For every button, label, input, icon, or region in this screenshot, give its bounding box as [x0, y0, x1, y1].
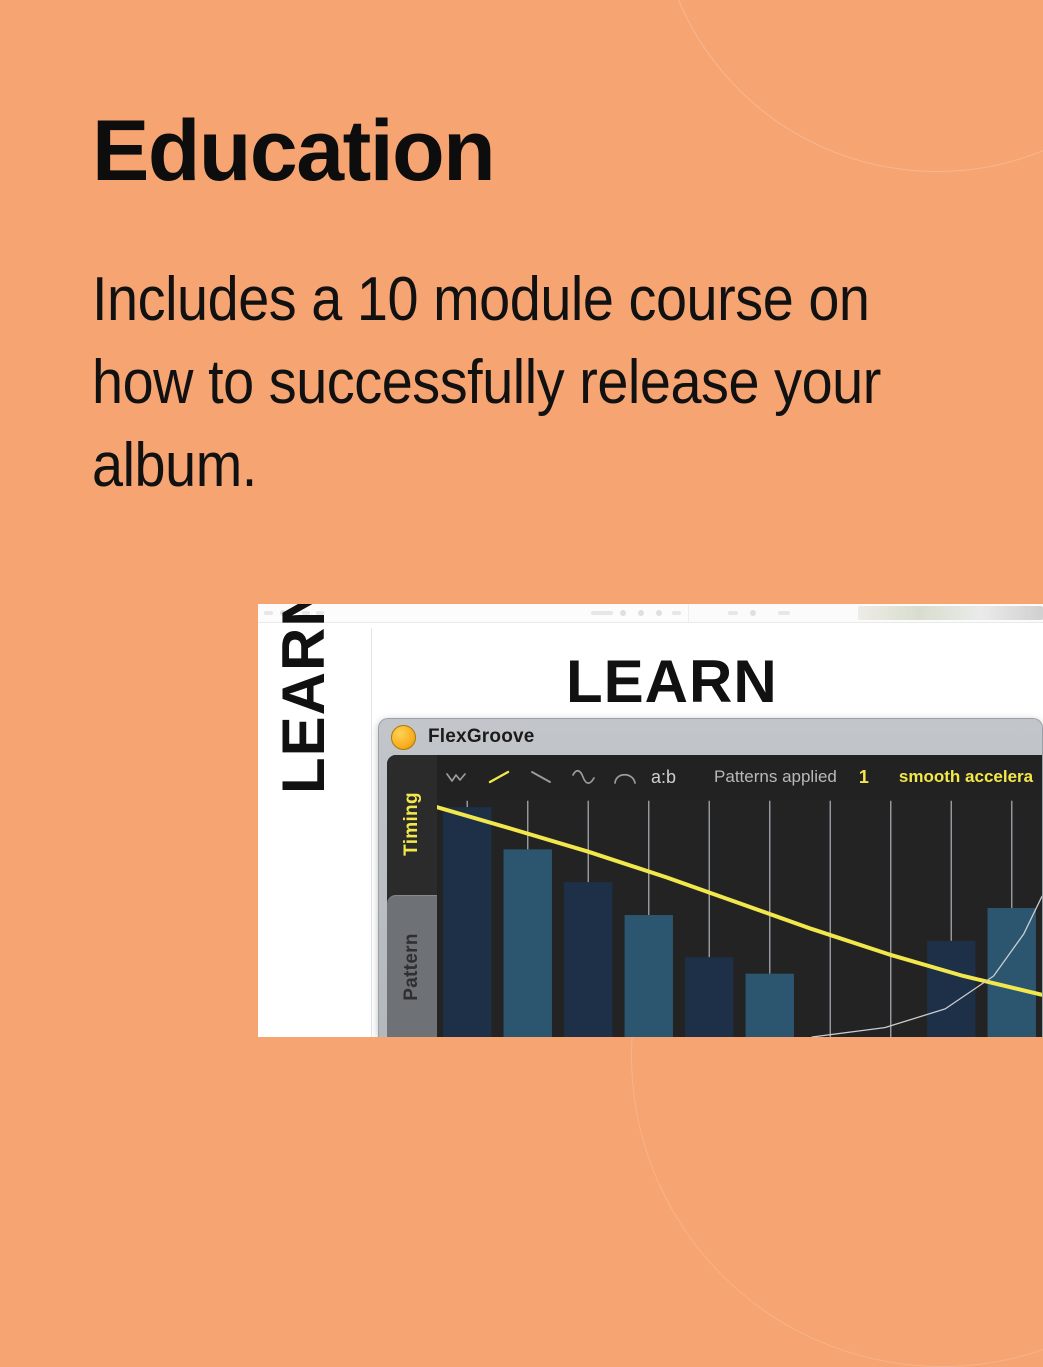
arc-curve-icon[interactable]: [605, 762, 647, 792]
ramp-up-curve-icon[interactable]: [479, 762, 521, 792]
plugin-body: Timing Pattern: [387, 755, 1042, 1037]
chart-bars: [443, 807, 1036, 1037]
chart-bar[interactable]: [564, 882, 612, 1037]
chart-bar[interactable]: [685, 957, 733, 1037]
learn-vertical-label: LEARN: [274, 604, 334, 794]
plugin-titlebar[interactable]: FlexGroove: [379, 719, 1042, 755]
vertical-divider: [371, 628, 372, 1037]
browser-secondary-icon-3[interactable]: [778, 611, 790, 615]
tab-timing[interactable]: Timing: [387, 755, 437, 893]
patterns-applied-value[interactable]: 1: [859, 767, 869, 788]
flexgroove-plugin-window: FlexGroove Timing Pattern: [378, 718, 1043, 1037]
chart-bar[interactable]: [504, 849, 552, 1037]
patterns-applied-label: Patterns applied: [714, 767, 837, 787]
timing-bar-chart[interactable]: [437, 799, 1042, 1037]
chart-bar[interactable]: [625, 915, 673, 1037]
browser-thumbnail-strip: [858, 606, 1043, 620]
tab-pattern[interactable]: Pattern: [387, 895, 437, 1037]
browser-toolbar-icon-2[interactable]: [638, 610, 644, 616]
tab-pattern-label: Pattern: [401, 933, 423, 1001]
chart-bar[interactable]: [927, 941, 975, 1037]
browser-toolbar-icon-1[interactable]: [620, 610, 626, 616]
plugin-tab-rail: Timing Pattern: [387, 755, 437, 1037]
page-title: Education: [92, 108, 972, 194]
ratio-ab-button[interactable]: a:b: [651, 767, 676, 788]
browser-menu-icon[interactable]: [672, 611, 681, 615]
browser-secondary-icon-1[interactable]: [728, 611, 738, 615]
page-subtitle: Includes a 10 module course on how to su…: [92, 258, 884, 507]
chart-bar[interactable]: [746, 974, 794, 1037]
copy-block: Education Includes a 10 module course on…: [92, 108, 972, 507]
zigzag-curve-icon[interactable]: [437, 762, 479, 792]
browser-toolbar-icon-3[interactable]: [656, 610, 662, 616]
chart-svg: [437, 799, 1042, 1037]
sine-curve-icon[interactable]: [563, 762, 605, 792]
preset-name-label[interactable]: smooth accelera: [899, 767, 1033, 787]
ramp-down-curve-icon[interactable]: [521, 762, 563, 792]
learn-heading: LEARN: [566, 652, 778, 712]
chart-bar[interactable]: [443, 807, 491, 1037]
browser-secondary-icon-2[interactable]: [750, 610, 756, 616]
browser-chrome-strip: [258, 604, 1043, 623]
plugin-toolbar: a:b Patterns applied 1 smooth accelera: [437, 755, 1042, 799]
browser-tab-title: [591, 611, 613, 615]
power-circle-icon[interactable]: [391, 725, 416, 750]
chart-bar[interactable]: [988, 908, 1036, 1037]
tab-timing-label: Timing: [401, 792, 423, 856]
course-screenshot-panel: LEARN LEARN FlexGroove Timing Pattern: [258, 604, 1043, 1037]
plugin-title: FlexGroove: [428, 726, 535, 748]
